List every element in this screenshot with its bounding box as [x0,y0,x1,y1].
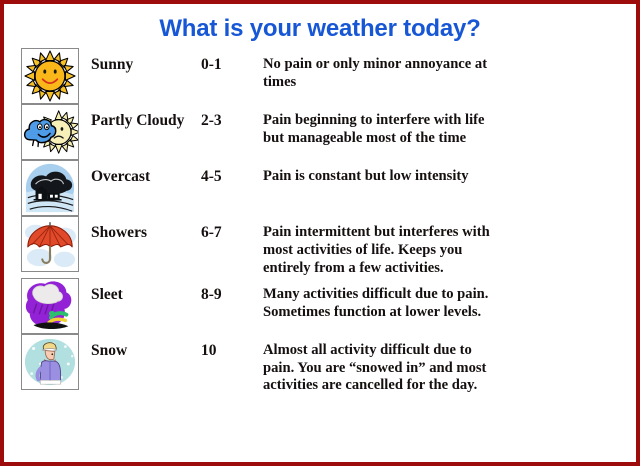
icon-cell [5,334,91,395]
table-row: Sleet 8-9 Many activities difficult due … [5,278,635,334]
snow-icon [21,334,79,390]
pain-description: Pain intermittent but interferes with mo… [263,216,635,277]
pain-score: 8-9 [201,278,263,304]
score-cell: 10 [201,334,263,395]
showers-icon [21,216,79,272]
table-row: Showers 6-7 Pain intermittent but interf… [5,216,635,277]
sunny-icon [21,48,79,104]
weather-label: Partly Cloudy [91,104,201,130]
table-body: Sunny 0-1 No pain or only minor annoyanc… [5,48,635,395]
label-cell: Partly Cloudy [91,104,201,160]
label-cell: Snow [91,334,201,395]
description-cell: Pain intermittent but interferes with mo… [263,216,635,277]
description-line: Pain intermittent but interferes with [263,224,627,242]
description-line: but manageable most of the time [263,130,627,148]
pain-description: No pain or only minor annoyance at times [263,48,635,92]
description-line: times [263,74,627,92]
score-cell: 8-9 [201,278,263,334]
label-cell: Sleet [91,278,201,334]
description-line: Pain is constant but low intensity [263,168,627,186]
icon-cell [5,278,91,334]
icon-cell [5,104,91,160]
weather-label: Showers [91,216,201,242]
score-cell: 6-7 [201,216,263,277]
pain-description: Many activities difficult due to pain. S… [263,278,635,322]
label-cell: Sunny [91,48,201,104]
description-cell: Many activities difficult due to pain. S… [263,278,635,334]
icon-cell [5,216,91,277]
pain-score: 10 [201,334,263,360]
table-row: Partly Cloudy 2-3 Pain beginning to inte… [5,104,635,160]
table-row: Snow 10 Almost all activity difficult du… [5,334,635,395]
weather-pain-scale-table: Sunny 0-1 No pain or only minor annoyanc… [5,48,635,395]
description-line: Pain beginning to interfere with life [263,112,627,130]
description-line: Sometimes function at lower levels. [263,304,627,322]
score-cell: 2-3 [201,104,263,160]
weather-label: Snow [91,334,201,360]
partly-cloudy-icon [21,104,79,160]
description-cell: Pain is constant but low intensity [263,160,635,216]
pain-score: 6-7 [201,216,263,242]
description-line: pain. You are “snowed in” and most [263,360,627,378]
description-line: activities are cancelled for the day. [263,377,627,395]
score-cell: 4-5 [201,160,263,216]
icon-cell [5,48,91,104]
pain-score: 0-1 [201,48,263,74]
description-line: most activities of life. Keeps you [263,242,627,260]
description-cell: Pain beginning to interfere with life bu… [263,104,635,160]
table-row: Sunny 0-1 No pain or only minor annoyanc… [5,48,635,104]
label-cell: Overcast [91,160,201,216]
description-line: Almost all activity difficult due to [263,342,627,360]
pain-score: 2-3 [201,104,263,130]
overcast-icon [21,160,79,216]
page-inner-frame: What is your weather today? [4,4,636,462]
description-cell: Almost all activity difficult due to pai… [263,334,635,395]
description-line: No pain or only minor annoyance at [263,56,627,74]
icon-cell [5,160,91,216]
weather-label: Sleet [91,278,201,304]
pain-description: Pain beginning to interfere with life bu… [263,104,635,148]
score-cell: 0-1 [201,48,263,104]
weather-label: Sunny [91,48,201,74]
pain-score: 4-5 [201,160,263,186]
page-title: What is your weather today? [5,5,635,48]
description-line: Many activities difficult due to pain. [263,286,627,304]
pain-description: Pain is constant but low intensity [263,160,635,186]
label-cell: Showers [91,216,201,277]
description-line: entirely from a few activities. [263,260,627,278]
table-row: Overcast 4-5 Pain is constant but low in… [5,160,635,216]
weather-pain-scale-page: What is your weather today? [0,0,640,466]
description-cell: No pain or only minor annoyance at times [263,48,635,104]
pain-description: Almost all activity difficult due to pai… [263,334,635,395]
weather-label: Overcast [91,160,201,186]
sleet-icon [21,278,79,334]
